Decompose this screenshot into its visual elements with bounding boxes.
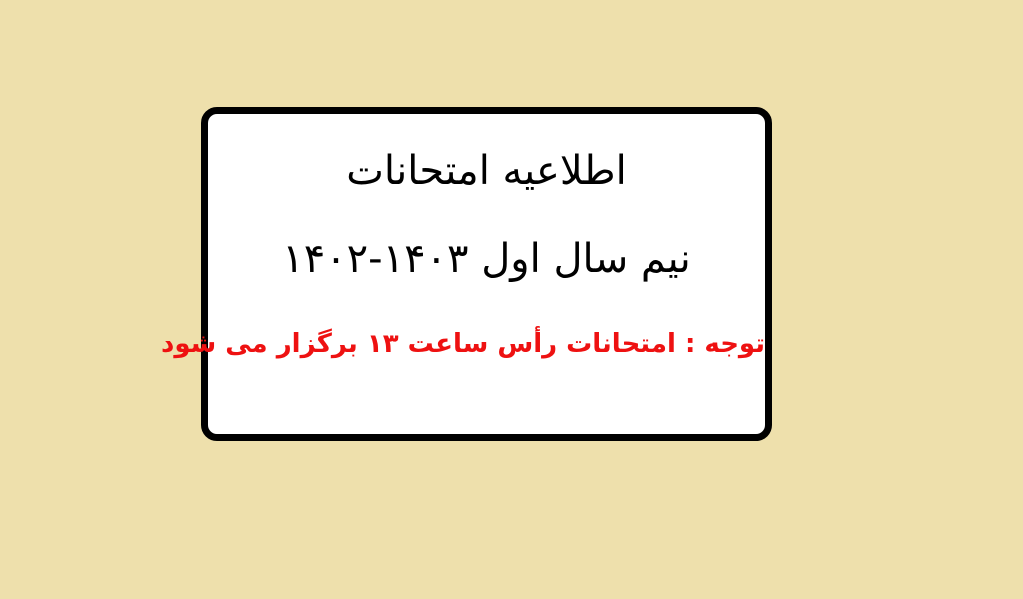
notice-card: اطلاعیه امتحانات نیم سال اول ۱۴۰۳-۱۴۰۲ ت… [201,107,772,441]
notice-warning-text: توجه : امتحانات رأس ساعت ۱۳ برگزار می شو… [208,328,765,362]
notice-term-line: نیم سال اول ۱۴۰۳-۱۴۰۲ [208,234,765,284]
notice-title: اطلاعیه امتحانات [208,146,765,196]
notice-card-body: اطلاعیه امتحانات نیم سال اول ۱۴۰۳-۱۴۰۲ ت… [208,114,765,434]
announcement-page: اطلاعیه امتحانات نیم سال اول ۱۴۰۳-۱۴۰۲ ت… [0,0,1023,599]
